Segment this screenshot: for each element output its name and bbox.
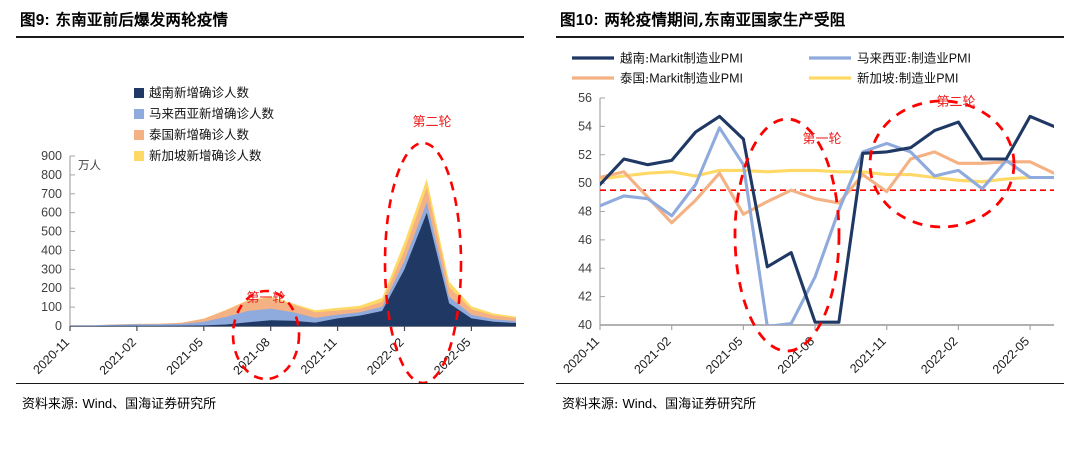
y-tick-label: 48: [578, 205, 592, 219]
y-tick-label: 44: [578, 261, 592, 275]
figure-9-svg: 越南新增确诊人数马来西亚新增确诊人数泰国新增确诊人数新加坡新增确诊人数01002…: [14, 38, 526, 383]
y-tick-label: 56: [578, 91, 592, 105]
y-tick-label: 50: [578, 176, 592, 190]
x-tick-label: 2021-11: [298, 335, 340, 377]
figure-9-panel: 图9: 东南亚前后爆发两轮疫情 越南新增确诊人数马来西亚新增确诊人数泰国新增确诊…: [0, 0, 540, 461]
y-tick-label: 42: [578, 290, 592, 304]
figure-9-colon: :: [45, 12, 50, 29]
figure-9-title: 图9: 东南亚前后爆发两轮疫情: [14, 0, 526, 36]
first-wave-ellipse: [735, 119, 839, 351]
legend-swatch: [134, 88, 144, 98]
x-tick-label: 2021-08: [775, 334, 817, 376]
figure-10-source-label: 资料来源:: [562, 397, 618, 412]
annotation-first-wave: 第一轮: [802, 132, 841, 147]
figure-10-colon: :: [593, 12, 598, 29]
figure-10-source: 资料来源: Wind、国海证券研究所: [554, 384, 1066, 412]
figure-9-title-text: 东南亚前后爆发两轮疫情: [56, 10, 229, 29]
x-tick-label: 2022-05: [431, 335, 473, 377]
y-tick-label: 400: [41, 243, 62, 257]
x-tick-label: 2021-02: [631, 334, 673, 376]
figure-10-label: 图: [560, 12, 576, 29]
y-tick-label: 500: [41, 225, 62, 239]
figure-9-source-rest: 、国海证券研究所: [112, 397, 216, 412]
figure-9-source-label: 资料来源:: [22, 397, 78, 412]
y-tick-label: 46: [578, 233, 592, 247]
x-tick-label: 2020-11: [30, 335, 72, 377]
annotation-second-wave: 第二轮: [412, 115, 451, 130]
y-tick-label: 700: [41, 187, 62, 201]
x-tick-label: 2020-11: [560, 334, 602, 376]
x-tick-label: 2021-05: [164, 335, 206, 377]
x-tick-label: 2021-05: [703, 334, 745, 376]
figure-10-chart: 越南:Markit制造业PMI马来西亚:制造业PMI泰国:Markit制造业PM…: [554, 38, 1066, 383]
legend-label: 马来西亚新增确诊人数: [149, 106, 275, 121]
legend-label: 泰国:Markit制造业PMI: [620, 71, 743, 86]
figure-9-source: 资料来源: Wind、国海证券研究所: [14, 384, 526, 412]
figure-page: 图9: 东南亚前后爆发两轮疫情 越南新增确诊人数马来西亚新增确诊人数泰国新增确诊…: [0, 0, 1080, 461]
y-tick-label: 54: [578, 119, 592, 133]
legend-label: 新加坡新增确诊人数: [149, 148, 262, 163]
legend-swatch: [134, 130, 144, 140]
y-tick-label: 52: [578, 148, 592, 162]
figure-10-title-text: 两轮疫情期间,东南亚国家生产受阻: [604, 10, 845, 29]
legend-label: 越南新增确诊人数: [149, 85, 250, 100]
figure-10-svg: 越南:Markit制造业PMI马来西亚:制造业PMI泰国:Markit制造业PM…: [554, 38, 1066, 383]
figure-10-source-rest: 、国海证券研究所: [652, 397, 756, 412]
y-tick-label: 900: [41, 149, 62, 163]
x-tick-label: 2022-05: [990, 334, 1032, 376]
legend-label: 马来西亚:制造业PMI: [857, 51, 971, 66]
figure-10-title: 图10: 两轮疫情期间,东南亚国家生产受阻: [554, 0, 1066, 36]
legend-label: 越南:Markit制造业PMI: [620, 51, 743, 66]
x-tick-label: 2022-02: [918, 334, 960, 376]
y-tick-label: 600: [41, 206, 62, 220]
annotation-first-wave: 第一轮: [246, 291, 285, 306]
y-axis-unit: 万人: [78, 158, 101, 172]
legend-label: 泰国新增确诊人数: [149, 127, 250, 142]
legend-swatch: [134, 151, 144, 161]
figure-10-source-wind: Wind: [623, 396, 653, 411]
figure-9-number: 9: [36, 12, 45, 29]
y-tick-label: 100: [41, 300, 62, 314]
y-tick-label: 200: [41, 281, 62, 295]
x-tick-label: 2022-02: [364, 335, 406, 377]
y-tick-label: 300: [41, 262, 62, 276]
line-series-3: [600, 170, 1054, 181]
legend-label: 新加坡:制造业PMI: [857, 71, 958, 86]
legend-swatch: [134, 109, 144, 119]
figure-10-number: 10: [576, 12, 594, 29]
figure-9-chart: 越南新增确诊人数马来西亚新增确诊人数泰国新增确诊人数新加坡新增确诊人数01002…: [14, 38, 526, 383]
figure-9-label: 图: [20, 12, 36, 29]
x-tick-label: 2021-02: [97, 335, 139, 377]
y-tick-label: 40: [578, 318, 592, 332]
figure-9-source-wind: Wind: [83, 396, 113, 411]
annotation-second-wave: 第二轮: [936, 95, 975, 110]
y-tick-label: 0: [55, 319, 62, 333]
y-tick-label: 800: [41, 168, 62, 182]
x-tick-label: 2021-11: [847, 334, 889, 376]
figure-10-panel: 图10: 两轮疫情期间,东南亚国家生产受阻 越南:Markit制造业PMI马来西…: [540, 0, 1080, 461]
